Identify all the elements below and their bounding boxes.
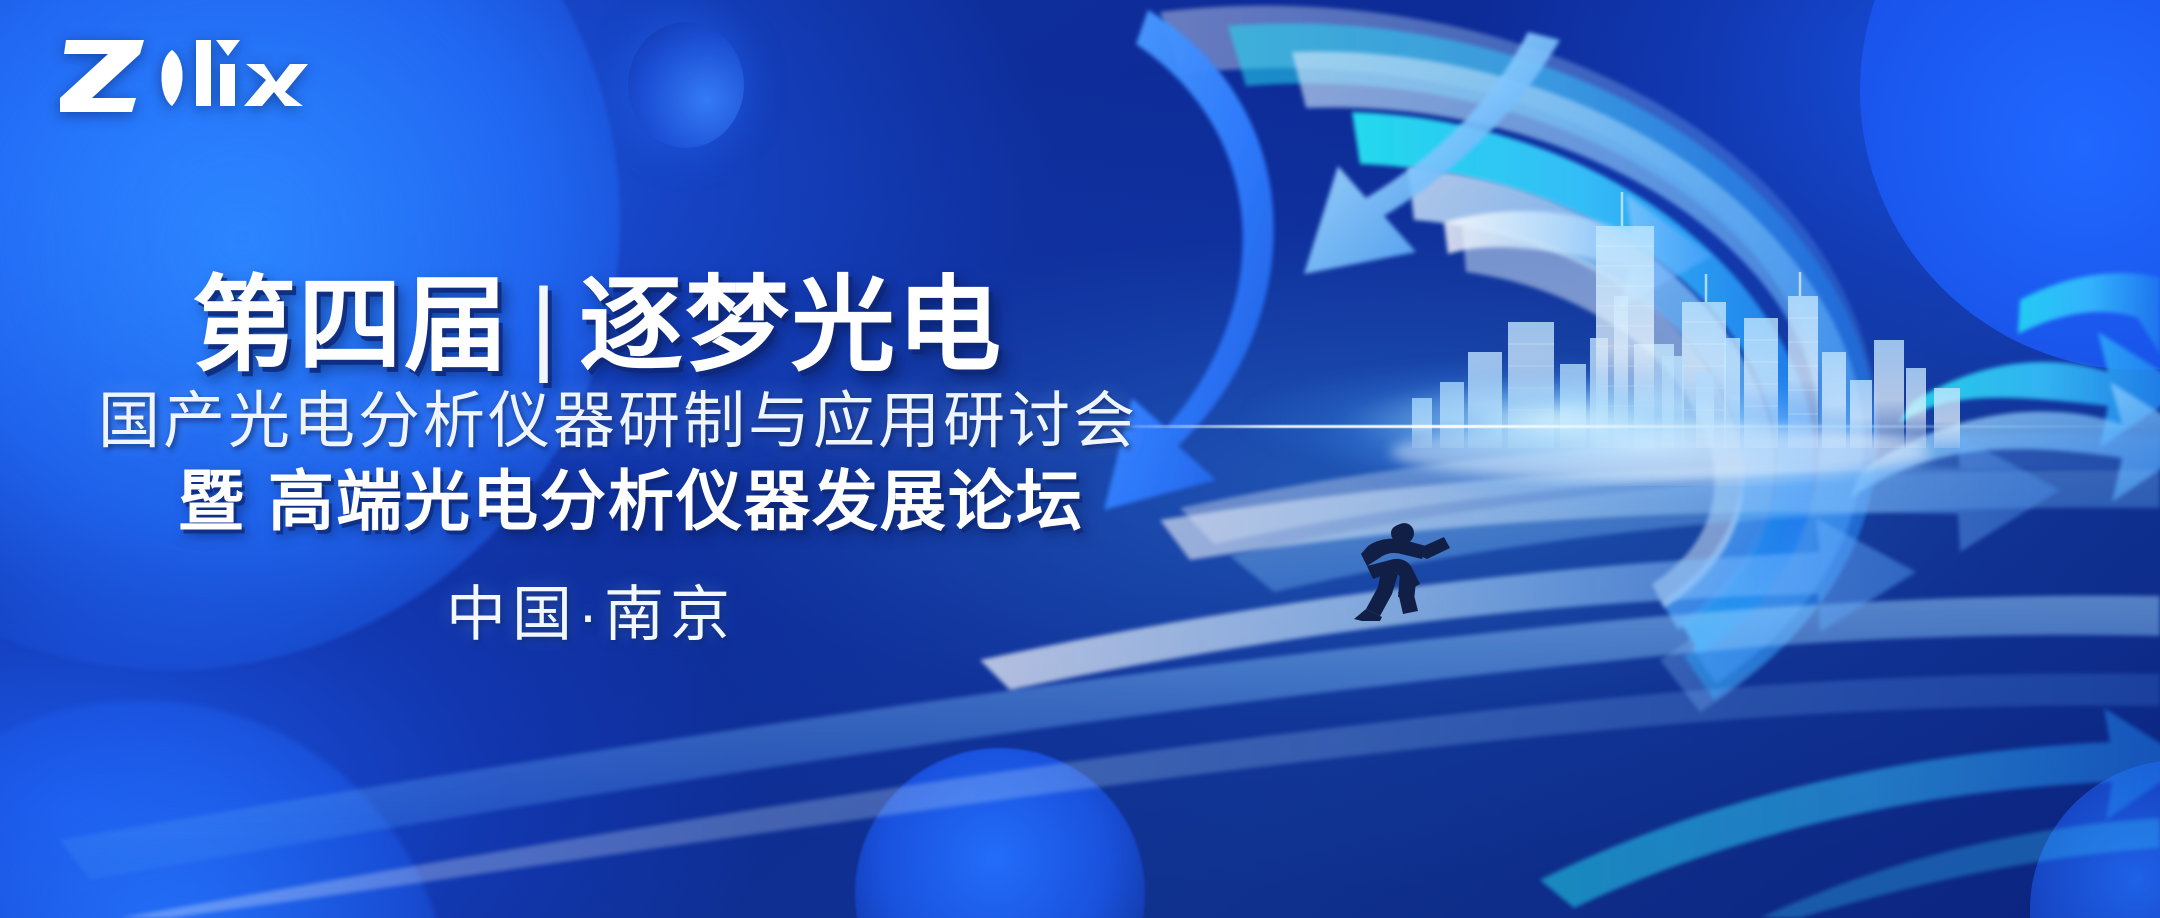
conference-banner: 第四届|逐梦光电 国产光电分析仪器研制与应用研讨会 暨高端光电分析仪器发展论坛 … (0, 0, 2160, 918)
bottom-ribbon-1 (60, 596, 2160, 880)
zolix-wordmark-icon (60, 34, 310, 114)
subtitle-secondary: 暨高端光电分析仪器发展论坛 (178, 448, 1084, 544)
headline-edition: 第四届 (192, 268, 510, 384)
glow-sphere-small (628, 22, 744, 148)
zolix-logo[interactable] (60, 34, 310, 114)
glow-sphere-bottom-right (2030, 760, 2160, 918)
glow-sphere-bottom-center (855, 748, 1145, 918)
glow-sphere-top-right (1860, 0, 2160, 370)
center-light-burst (1180, 330, 2080, 510)
headline-theme: 逐梦光电 (579, 268, 1003, 384)
glow-sphere-bottom-left (0, 700, 450, 918)
headline-divider: | (530, 268, 559, 384)
event-location: 中国·南京 (446, 566, 736, 653)
bottom-ribbon-2 (120, 674, 2160, 918)
running-person-icon (1338, 516, 1458, 621)
arrow-left-mid (1304, 32, 1560, 274)
horizon-light-line (1090, 425, 2160, 428)
subtitle-secondary-text: 高端光电分析仪器发展论坛 (268, 464, 1084, 538)
bottom-right-arcs (1540, 708, 2160, 918)
subtitle-prefix: 暨 (178, 464, 246, 538)
arrow-right-upper (1444, 194, 1712, 308)
subtitle-primary: 国产光电分析仪器研制与应用研讨会 (98, 370, 1138, 460)
headline: 第四届|逐梦光电 (192, 240, 1003, 391)
